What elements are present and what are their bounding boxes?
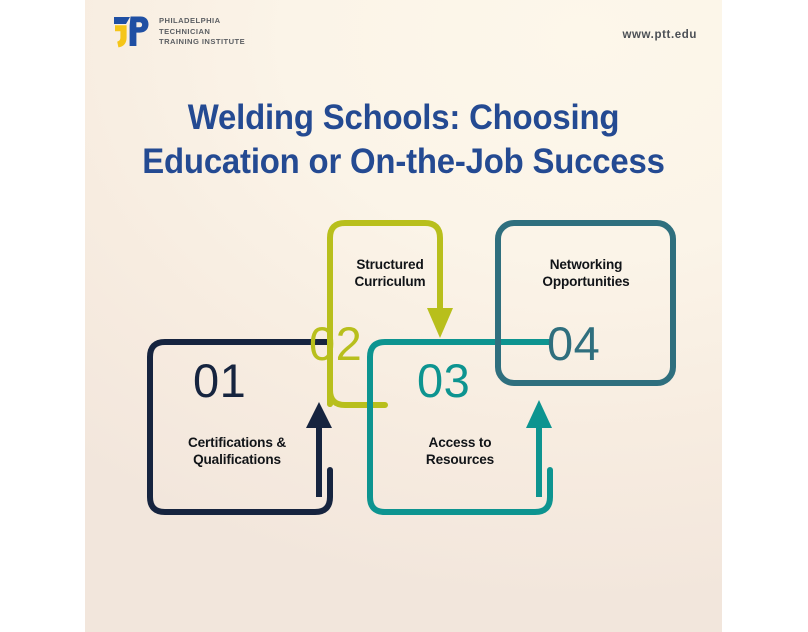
step-03-label-line-1: Access to — [375, 434, 545, 451]
step-03-label-line-2: Resources — [375, 451, 545, 468]
arrow-up-icon — [526, 400, 552, 428]
step-01-label-line-2: Qualifications — [147, 451, 327, 468]
step-03-label: Access to Resources — [375, 434, 545, 468]
step-03-number: 03 — [417, 357, 470, 404]
infographic-canvas: PHILADELPHIA TECHNICIAN TRAINING INSTITU… — [0, 0, 808, 632]
step-02-label-line-1: Structured — [300, 256, 480, 273]
step-04-number: 04 — [547, 320, 600, 367]
step-02-box-lower — [330, 390, 385, 405]
step-02-number: 02 — [309, 320, 362, 367]
step-04-label: Networking Opportunities — [500, 256, 672, 290]
step-01-label-line-1: Certifications & — [147, 434, 327, 451]
step-02-label-line-2: Curriculum — [300, 273, 480, 290]
step-01-label: Certifications & Qualifications — [147, 434, 327, 468]
step-04-label-line-2: Opportunities — [500, 273, 672, 290]
process-diagram: 01 Certifications & Qualifications Struc… — [85, 0, 722, 632]
step-01-number: 01 — [193, 357, 246, 404]
step-04-label-line-1: Networking — [500, 256, 672, 273]
diagram-shapes — [85, 0, 722, 632]
arrow-down-icon — [427, 308, 453, 338]
step-02-label: Structured Curriculum — [300, 256, 480, 290]
